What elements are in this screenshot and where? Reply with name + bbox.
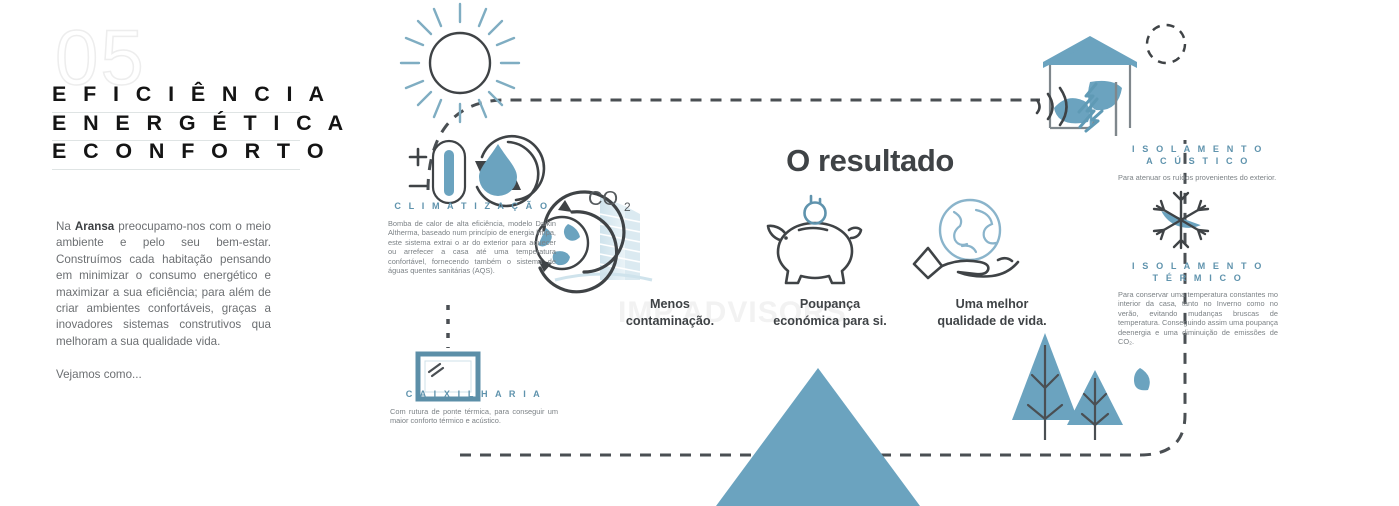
termico-title-line-2: T É R M I C O — [1118, 272, 1278, 284]
left-panel: 05 E F I C I Ê N C I A E N E R G É T I C… — [0, 0, 340, 506]
diagram-area: CO 2 — [340, 0, 1399, 506]
result-title: O resultado — [700, 143, 1040, 179]
block-caixilharia: C A I X I L H A R I A Com rutura de pont… — [390, 388, 558, 426]
thermometer-icon — [410, 141, 465, 203]
title-line-1: E F I C I Ê N C I A — [52, 84, 300, 112]
caixilharia-body: Com rutura de ponte térmica, para conseg… — [390, 407, 558, 426]
climatizacao-body: Bomba de calor de alta eficiência, model… — [388, 219, 556, 275]
block-climatizacao: C L I M A T I Z A Ç Ã O Bomba de calor d… — [388, 200, 556, 275]
benefit-line-2: qualidade de vida. — [902, 313, 1082, 330]
caixilharia-title: C A I X I L H A R I A — [390, 388, 558, 400]
benefit-line-2: económica para si. — [740, 313, 920, 330]
benefit-line-1: Uma melhor — [902, 296, 1082, 313]
termico-title-line-1: I S O L A M E N T O — [1118, 260, 1278, 272]
block-isolamento-termico: I S O L A M E N T O T É R M I C O Para c… — [1118, 260, 1278, 346]
benefit-line-1: Poupança — [740, 296, 920, 313]
hand-holding-globe-icon — [914, 200, 1018, 278]
benefit-contamination: Menos contaminação. — [580, 296, 760, 329]
sun-icon — [401, 4, 519, 122]
intro-rest: preocupamo-nos com o meio ambiente e pel… — [56, 220, 271, 348]
pine-trees-icon — [1012, 333, 1150, 440]
benefit-quality-of-life: Uma melhor qualidade de vida. — [902, 296, 1082, 329]
termico-body: Para conservar uma temperatura constante… — [1118, 290, 1278, 346]
intro-paragraph: Na Aransa preocupamo-nos com o meio ambi… — [56, 219, 271, 384]
dashed-circle-icon — [1147, 25, 1185, 63]
benefit-savings: Poupança económica para si. — [740, 296, 920, 329]
house-leaf-icon — [1043, 25, 1185, 128]
piggy-bank-icon — [768, 196, 861, 283]
mountain-triangle-icon — [716, 368, 920, 506]
snowflake-sun-icon — [1154, 192, 1208, 248]
co2-label: CO — [588, 188, 618, 210]
title-line-3: E C O N F O R T O — [52, 141, 300, 169]
block-isolamento-acustico: I S O L A M E N T O A C Ú S T I C O Para… — [1118, 143, 1278, 182]
benefit-line-2: contaminação. — [580, 313, 760, 330]
intro-closing: Vejamos como... — [56, 367, 271, 383]
benefit-line-1: Menos — [580, 296, 760, 313]
acustico-body: Para atenuar os ruídos provenientes do e… — [1118, 173, 1278, 182]
acustico-title-line-1: I S O L A M E N T O — [1118, 143, 1278, 155]
page-title: E F I C I Ê N C I A E N E R G É T I C A … — [52, 84, 300, 170]
leaf-shape — [1134, 368, 1150, 390]
climatizacao-title: C L I M A T I Z A Ç Ã O — [388, 200, 556, 212]
title-divider-3 — [52, 169, 300, 170]
intro-lead: Na — [56, 220, 75, 233]
co2-subscript: 2 — [624, 200, 631, 214]
infographic-page: 05 E F I C I Ê N C I A E N E R G É T I C… — [0, 0, 1399, 506]
intro-paragraph-main: Na Aransa preocupamo-nos com o meio ambi… — [56, 219, 271, 350]
water-drop-cycle-icon — [475, 136, 544, 206]
title-line-2: E N E R G É T I C A — [52, 113, 300, 141]
brand-name: Aransa — [75, 220, 114, 233]
acustico-title-line-2: A C Ú S T I C O — [1118, 155, 1278, 167]
